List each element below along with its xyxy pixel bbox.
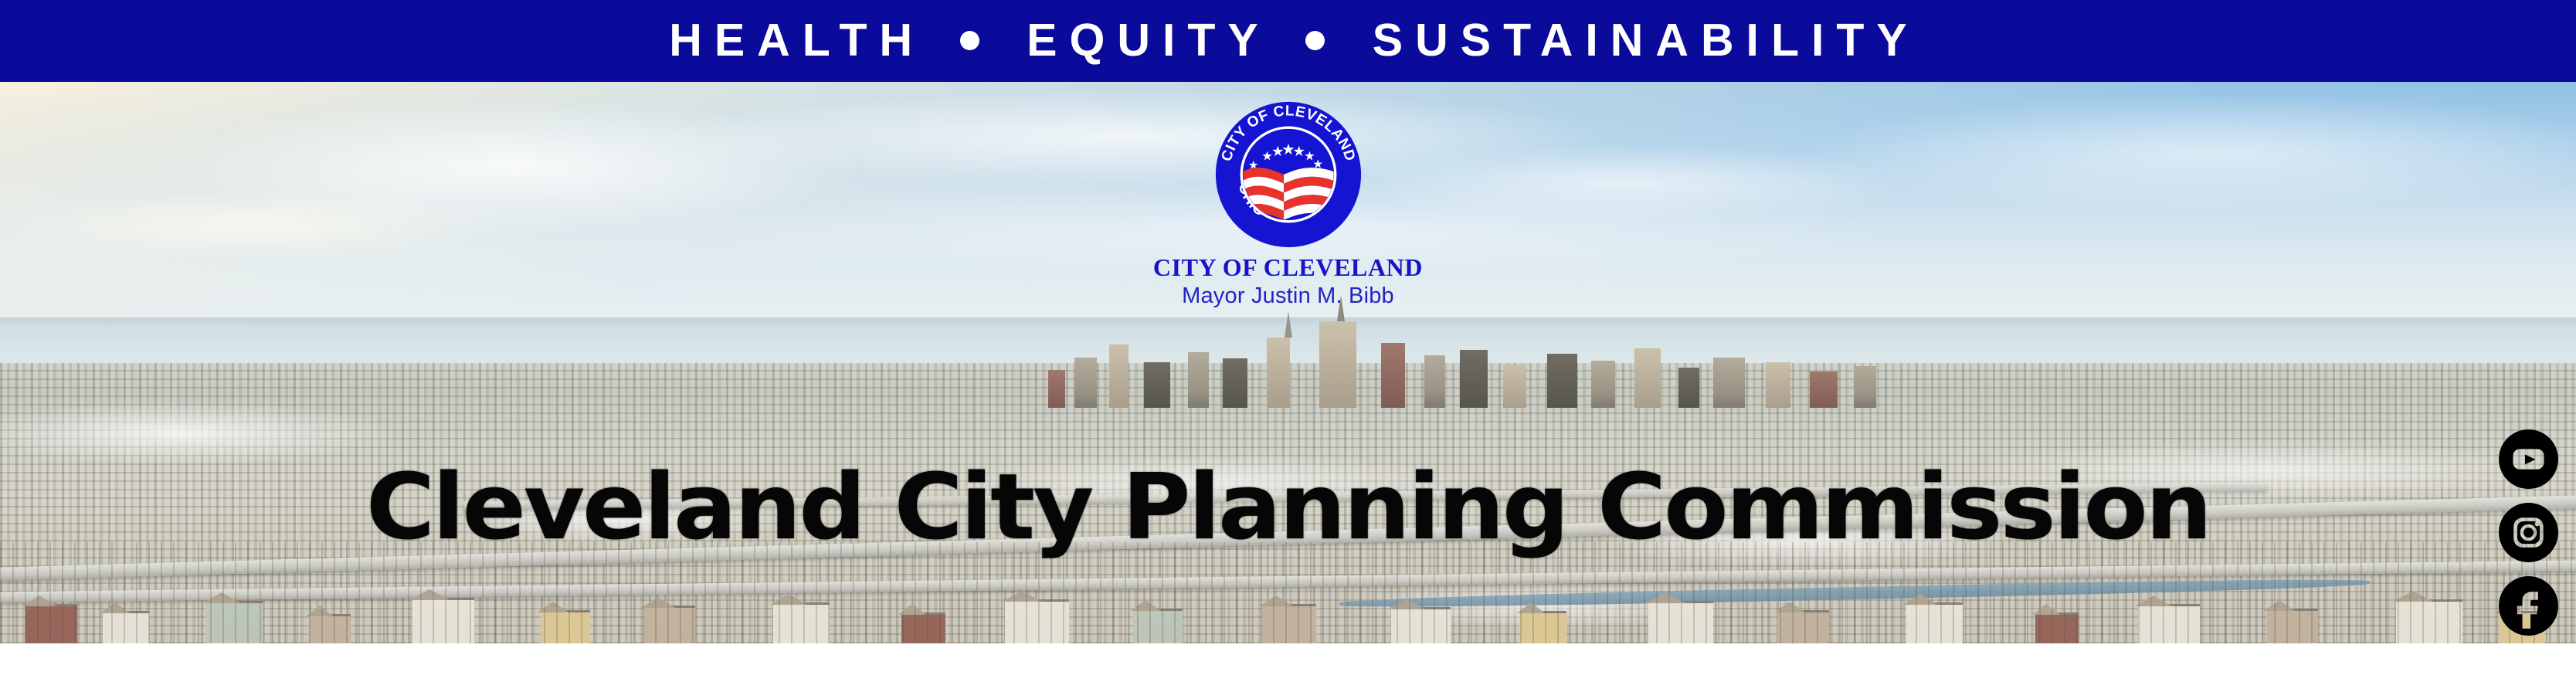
facebook-icon[interactable]: [2499, 576, 2558, 636]
tagline-word-equity: EQUITY: [1014, 18, 1271, 63]
tagline-separator-dot-2: [1271, 17, 1360, 63]
bottom-white-strip: [0, 643, 2576, 682]
tagline-banner: HEALTH EQUITY SUSTAINABILITY: [0, 0, 2576, 82]
page-title: Cleveland City Planning Commission: [0, 461, 2576, 552]
tagline-word-health: HEALTH: [657, 18, 925, 63]
social-media-rail: [2497, 429, 2559, 636]
tagline-separator-dot-1: [925, 17, 1014, 63]
instagram-icon[interactable]: [2499, 503, 2558, 562]
bullet-dot-icon: [960, 31, 979, 50]
bullet-dot-icon: [1305, 31, 1325, 50]
youtube-icon[interactable]: [2499, 429, 2558, 489]
tagline-word-sustainability: SUSTAINABILITY: [1360, 18, 1919, 63]
cleveland-city-planning-commission-header: HEALTH EQUITY SUSTAINABILITY CITY OF CLE…: [0, 0, 2576, 682]
